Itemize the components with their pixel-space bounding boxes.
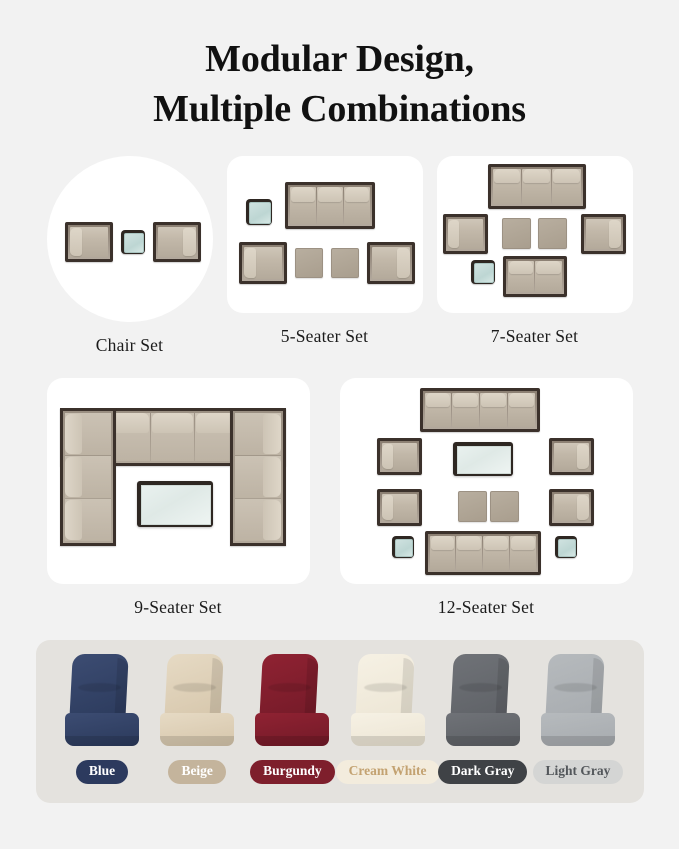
cushion-cream-white	[348, 654, 428, 751]
color-option-burgundy[interactable]: Burgundy	[248, 654, 336, 803]
set-5-seater[interactable]: 5-Seater Set	[227, 156, 423, 347]
color-label-cream-white: Cream White	[336, 760, 440, 784]
cushion-back	[164, 654, 224, 722]
cushion-back	[355, 654, 415, 722]
cushion-seat	[160, 713, 234, 746]
set-row-bottom: 9-Seater Set 12-Seater Set	[0, 378, 679, 618]
color-option-light-gray[interactable]: Light Gray	[534, 654, 622, 803]
sofa-2-seat	[503, 256, 567, 297]
cushion-burgundy	[252, 654, 332, 751]
side-table	[471, 260, 495, 284]
side-table	[121, 230, 145, 254]
glass-coffee-table	[453, 442, 513, 476]
glass-coffee-table	[137, 481, 213, 527]
color-option-cream-white[interactable]: Cream White	[344, 654, 432, 803]
armchair-left	[443, 214, 488, 254]
color-swatch-row: Blue Beige Burgundy Cream White	[36, 640, 644, 803]
cushion-dark-gray	[443, 654, 523, 751]
page-title: Modular Design, Multiple Combinations	[0, 0, 679, 134]
set-12-seater-illustration	[340, 378, 633, 584]
set-7-seater-label: 7-Seater Set	[491, 326, 578, 347]
armchair-right	[153, 222, 201, 262]
cushion-seat	[541, 713, 615, 746]
color-label-light-gray: Light Gray	[533, 760, 624, 784]
cushion-seat	[446, 713, 520, 746]
cushion-seat	[351, 713, 425, 746]
side-table-right	[555, 536, 577, 558]
ottoman-2	[538, 218, 567, 249]
cushion-back	[260, 654, 320, 722]
cushion-seat	[65, 713, 139, 746]
color-label-beige: Beige	[168, 760, 226, 784]
set-9-seater-illustration	[47, 378, 310, 584]
set-12-seater-label: 12-Seater Set	[438, 597, 534, 618]
cushion-seat	[255, 713, 329, 746]
set-9-seater-label: 9-Seater Set	[134, 597, 221, 618]
sofa-4-seat-bottom	[425, 531, 541, 575]
ottoman-1	[295, 248, 323, 278]
color-option-dark-gray[interactable]: Dark Gray	[439, 654, 527, 803]
cushion-light-gray	[538, 654, 618, 751]
set-7-seater[interactable]: 7-Seater Set	[437, 156, 633, 347]
title-line-2: Multiple Combinations	[0, 84, 679, 134]
ottoman-2	[490, 491, 519, 522]
sofa-3-seat	[285, 182, 375, 229]
set-chair[interactable]: Chair Set	[47, 156, 213, 356]
side-table-left	[392, 536, 414, 558]
color-label-blue: Blue	[76, 760, 128, 784]
armchair-right-lower	[549, 489, 594, 526]
ottoman-1	[458, 491, 487, 522]
armchair-left	[239, 242, 287, 284]
cushion-beige	[157, 654, 237, 751]
armchair-left-lower	[377, 489, 422, 526]
cushion-back	[69, 654, 129, 722]
set-7-seater-illustration	[437, 156, 633, 313]
title-line-1: Modular Design,	[205, 38, 474, 80]
armchair-left-upper	[377, 438, 422, 475]
cushion-blue	[62, 654, 142, 751]
set-5-seater-label: 5-Seater Set	[281, 326, 368, 347]
armchair-right	[581, 214, 626, 254]
cushion-back	[545, 654, 605, 722]
color-label-dark-gray: Dark Gray	[438, 760, 527, 784]
cushion-back	[450, 654, 510, 722]
set-5-seater-illustration	[227, 156, 423, 313]
set-chair-illustration	[47, 156, 213, 322]
sectional-left	[60, 408, 116, 546]
sofa-4-seat-top	[420, 388, 540, 432]
armchair-left	[65, 222, 113, 262]
color-option-beige[interactable]: Beige	[153, 654, 241, 803]
set-9-seater[interactable]: 9-Seater Set	[47, 378, 310, 618]
sectional-right	[230, 408, 286, 546]
ottoman-1	[502, 218, 531, 249]
armchair-right-upper	[549, 438, 594, 475]
set-chair-label: Chair Set	[96, 335, 163, 356]
color-option-blue[interactable]: Blue	[58, 654, 146, 803]
sofa-3-seat	[488, 164, 586, 209]
set-row-top: Chair Set 5-Seater Set	[0, 156, 679, 356]
side-table	[246, 199, 272, 225]
color-options-panel: Blue Beige Burgundy Cream White	[36, 640, 644, 803]
set-12-seater[interactable]: 12-Seater Set	[340, 378, 633, 618]
ottoman-2	[331, 248, 359, 278]
armchair-right	[367, 242, 415, 284]
color-label-burgundy: Burgundy	[250, 760, 335, 784]
